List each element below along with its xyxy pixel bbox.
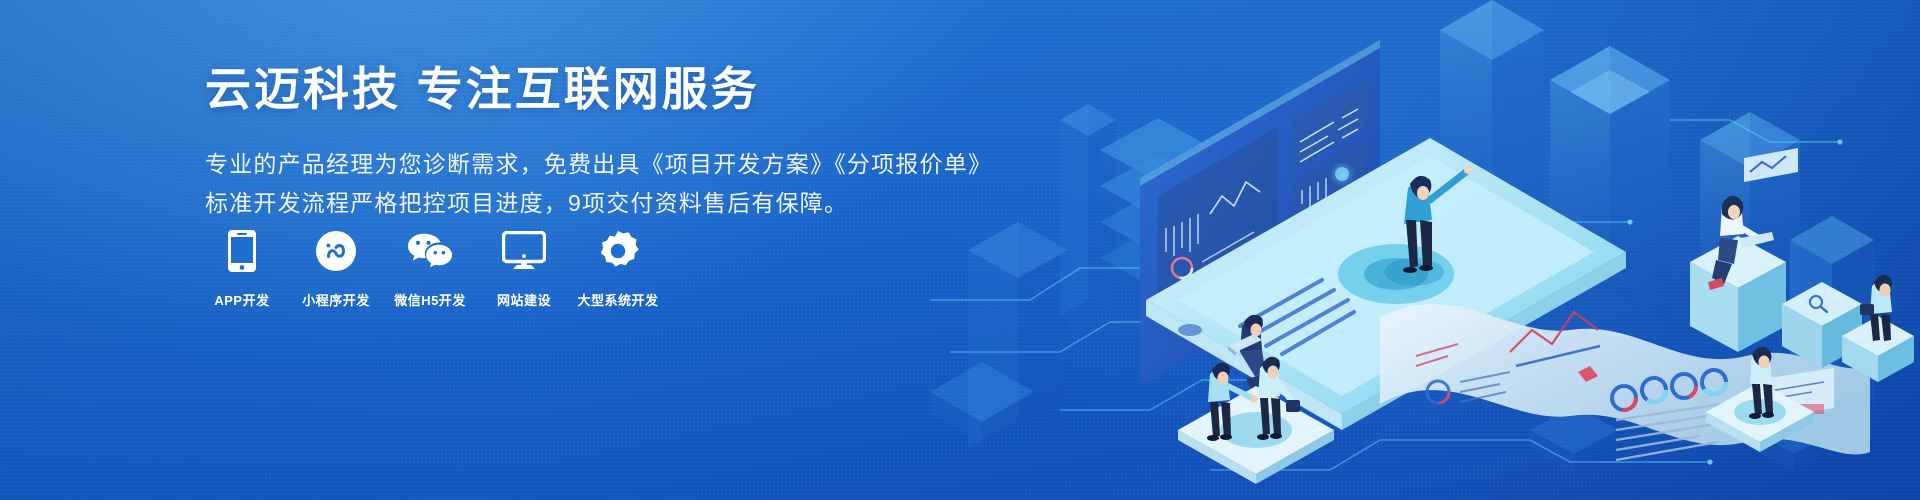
hero-banner: 云迈科技 专注互联网服务 专业的产品经理为您诊断需求，免费出具《项目开发方案》《… (0, 0, 1920, 500)
service-item-app[interactable]: APP开发 (205, 228, 279, 309)
service-label-app: APP开发 (214, 290, 269, 309)
gear-icon (595, 228, 641, 274)
mobile-phone-icon (219, 228, 265, 274)
service-label-wechat-h5: 微信H5开发 (394, 290, 466, 309)
service-item-website[interactable]: 网站建设 (487, 228, 561, 309)
page-title: 云迈科技 专注互联网服务 (205, 64, 925, 116)
isometric-tech-illustration (910, 0, 1920, 500)
service-icon-row: APP开发 小程序开发 (205, 228, 675, 309)
service-label-large-system: 大型系统开发 (578, 290, 659, 309)
hero-copy: 云迈科技 专注互联网服务 专业的产品经理为您诊断需求，免费出具《项目开发方案》《… (205, 64, 925, 223)
subtitle-line-2: 标准开发流程严格把控项目进度，9项交付资料售后有保障。 (205, 185, 925, 223)
mini-program-icon (313, 228, 359, 274)
service-item-large-system[interactable]: 大型系统开发 (581, 228, 655, 309)
monitor-icon (501, 228, 547, 274)
wechat-icon (407, 228, 453, 274)
subtitle-line-1: 专业的产品经理为您诊断需求，免费出具《项目开发方案》《分项报价单》 (205, 146, 925, 184)
service-item-wechat-h5[interactable]: 微信H5开发 (393, 228, 467, 309)
service-item-miniprogram[interactable]: 小程序开发 (299, 228, 373, 309)
service-label-website: 网站建设 (497, 290, 551, 309)
service-label-miniprogram: 小程序开发 (302, 290, 370, 309)
